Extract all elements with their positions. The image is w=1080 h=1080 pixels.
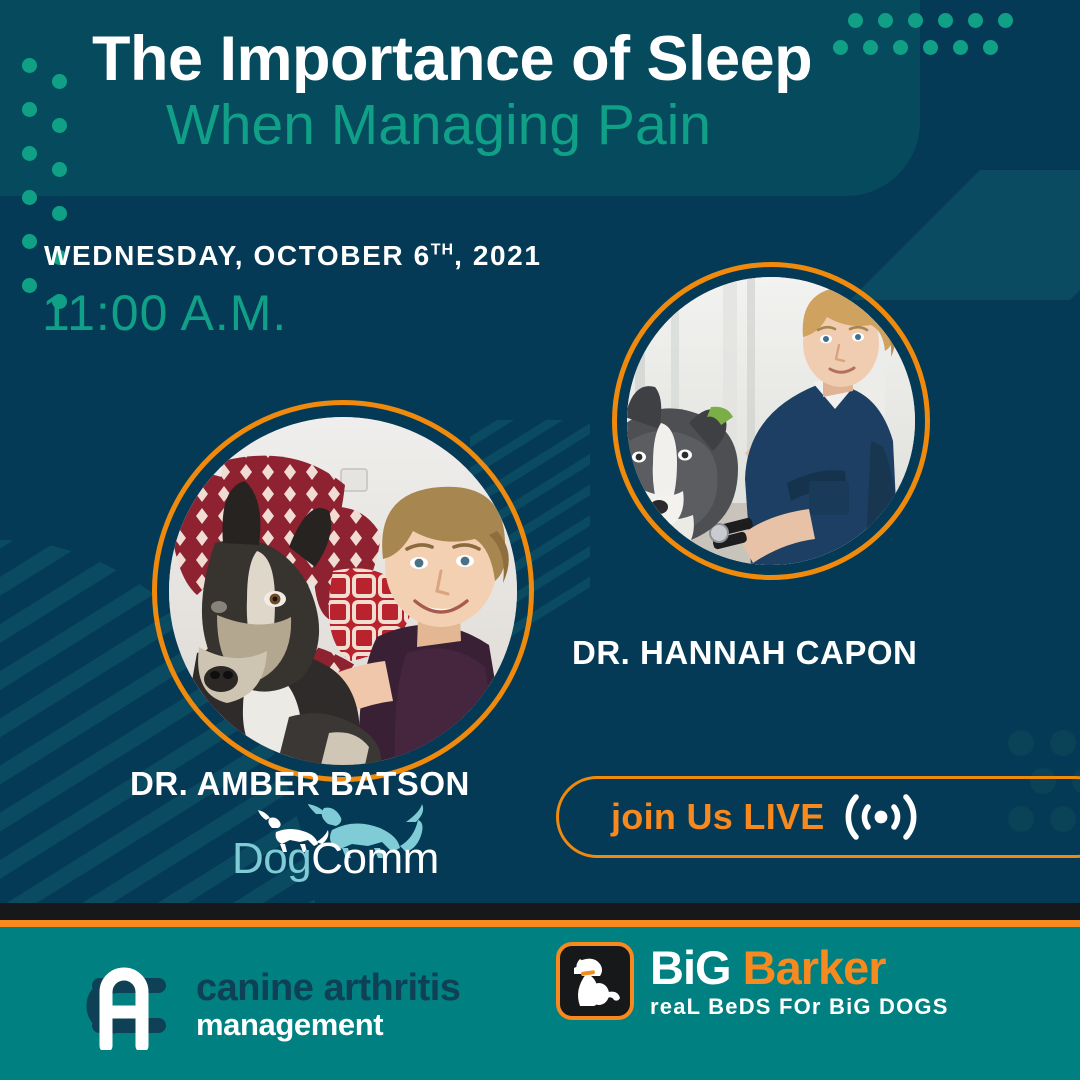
page-title: The Importance of Sleep	[92, 26, 812, 93]
speaker-photo-hannah-capon	[612, 262, 930, 580]
event-date: WEDNESDAY, OCTOBER 6TH, 2021	[44, 240, 542, 272]
dogcomm-part1: Dog	[232, 834, 311, 883]
event-date-prefix: WEDNESDAY, OCTOBER 6	[44, 240, 431, 271]
event-date-ordinal: TH	[431, 242, 454, 259]
event-time: 11:00 A.M.	[42, 284, 287, 342]
cam-wordmark: canine arthritis management	[196, 969, 460, 1040]
speaker-name-hannah-capon: DR. HANNAH CAPON	[572, 634, 917, 672]
cam-line1: canine arthritis	[196, 969, 460, 1007]
cam-line2: management	[196, 1009, 460, 1040]
speaker-photo-amber-batson	[152, 400, 534, 782]
big-barker-part2: Barker	[743, 941, 886, 994]
woman-with-bull-terrier-photo	[169, 417, 517, 765]
dogcomm-logo: DogComm	[232, 812, 432, 880]
broadcast-live-icon	[843, 788, 919, 846]
avatar	[627, 277, 915, 565]
dogcomm-wordmark: DogComm	[232, 834, 439, 884]
page-subtitle: When Managing Pain	[166, 95, 812, 155]
speaker-name-amber-batson: DR. AMBER BATSON	[130, 765, 470, 803]
sitting-dog-icon	[568, 954, 622, 1008]
vet-with-collie-photo	[627, 277, 915, 565]
big-barker-part1: BiG	[650, 941, 731, 994]
cam-joint-icon	[74, 958, 178, 1050]
join-us-live-label: join Us LIVE	[611, 796, 825, 838]
join-us-live-button[interactable]: join Us LIVE	[556, 776, 1080, 858]
big-barker-wordmark: BiG Barker reaL BeDS FOr BiG DOGS	[650, 944, 949, 1018]
big-barker-line1: BiG Barker	[650, 944, 949, 991]
big-barker-badge	[556, 942, 634, 1020]
avatar	[169, 417, 517, 765]
big-barker-tagline: reaL BeDS FOr BiG DOGS	[650, 996, 949, 1018]
sponsor-logo-big-barker[interactable]: BiG Barker reaL BeDS FOr BiG DOGS	[556, 942, 949, 1020]
footer-orange-rule	[0, 920, 1080, 927]
title-block: The Importance of Sleep When Managing Pa…	[92, 26, 812, 155]
event-date-suffix: , 2021	[454, 240, 541, 271]
poster-canvas: The Importance of Sleep When Managing Pa…	[0, 0, 1080, 1080]
sponsor-logo-canine-arthritis-management[interactable]: canine arthritis management	[74, 958, 460, 1050]
footer-dark-strip	[0, 903, 1080, 920]
dogcomm-part2: Comm	[311, 834, 439, 883]
